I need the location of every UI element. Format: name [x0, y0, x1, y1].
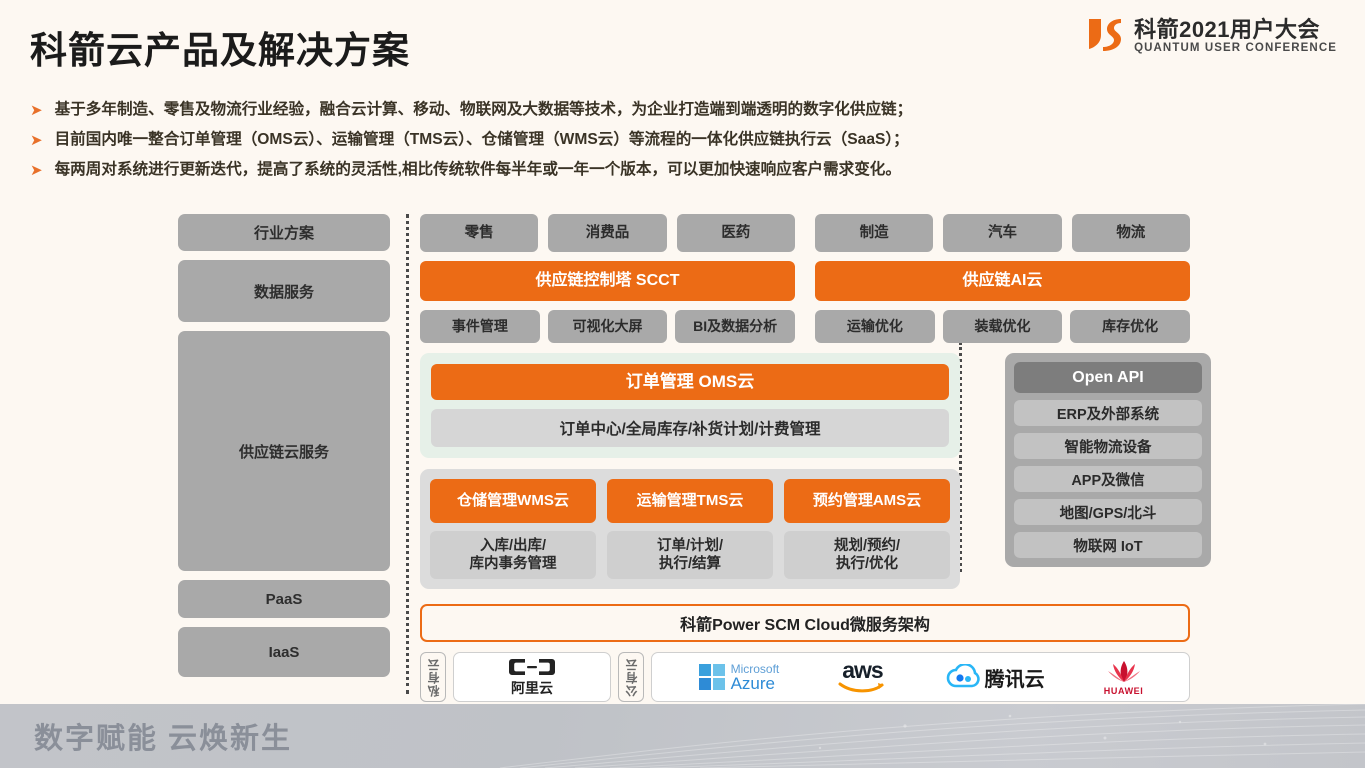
slide-root: 科箭云产品及解决方案 科箭2021用户大会 QUANTUM USER CONFE…	[0, 0, 1365, 768]
iaas-row: 私有云 阿里云 公有云	[420, 652, 1190, 702]
capability-chip-dashboard[interactable]: 可视化大屏	[548, 310, 668, 343]
tencent-cloud-logo-icon[interactable]: 腾讯云	[946, 663, 1045, 692]
architecture-diagram: 行业方案 数据服务 供应链云服务 PaaS IaaS 零售 消费品 医药 制造 …	[178, 214, 1190, 694]
capability-chip-event-mgmt[interactable]: 事件管理	[420, 310, 540, 343]
capability-chip-loading-opt[interactable]: 装载优化	[943, 310, 1063, 343]
platform-row: 供应链控制塔 SCCT 供应链AI云	[420, 261, 1190, 301]
arrow-bullet-icon: ➤	[30, 160, 43, 181]
aliyun-logo-card[interactable]: 阿里云	[453, 652, 611, 702]
private-cloud-tag-label: 私有云	[425, 658, 442, 697]
api-item-app[interactable]: APP及微信	[1014, 466, 1202, 492]
footer-tagline: 数字赋能 云焕新生	[34, 715, 292, 757]
vertical-divider-left	[406, 214, 409, 694]
industry-chip-pharma[interactable]: 医药	[677, 214, 795, 252]
aws-smile-icon	[838, 681, 886, 694]
execution-title-line1: 仓储管理	[457, 492, 517, 510]
industry-group-right: 制造 汽车 物流	[815, 214, 1190, 252]
windows-squares-icon	[698, 663, 726, 691]
execution-title-line2: AMS云	[873, 492, 921, 510]
capability-group-left: 事件管理 可视化大屏 BI及数据分析	[420, 310, 795, 343]
industry-chip-retail[interactable]: 零售	[420, 214, 538, 252]
tencent-cloud-mark-icon	[946, 664, 980, 690]
execution-title-line1: 预约管理	[813, 492, 873, 510]
execution-title-wms[interactable]: 仓储管理 WMS云	[430, 479, 596, 523]
industry-chip-manufacturing[interactable]: 制造	[815, 214, 933, 252]
oms-panel: 订单管理 OMS云 订单中心/全局库存/补货计划/计费管理	[420, 353, 960, 458]
public-cloud-tag: 公有云	[618, 652, 644, 702]
aws-label: aws	[842, 660, 882, 681]
list-item: ➤ 基于多年制造、零售及物流行业经验，融合云计算、移动、物联网及大数据等技术，为…	[30, 100, 1347, 121]
api-item-erp[interactable]: ERP及外部系统	[1014, 400, 1202, 426]
logo-title-en: QUANTUM USER CONFERENCE	[1134, 42, 1337, 54]
aliyun-logo-icon: 阿里云	[509, 657, 555, 698]
api-item-equipment[interactable]: 智能物流设备	[1014, 433, 1202, 459]
layer-label-industry: 行业方案	[178, 214, 390, 251]
huawei-flower-icon	[1107, 659, 1141, 685]
industry-chip-consumer[interactable]: 消费品	[548, 214, 666, 252]
arrow-bullet-icon: ➤	[30, 100, 43, 121]
capability-group-right: 运输优化 装载优化 库存优化	[815, 310, 1190, 343]
tencent-cloud-label: 腾讯云	[985, 663, 1045, 692]
industry-chip-logistics[interactable]: 物流	[1072, 214, 1190, 252]
conference-logo: 科箭2021用户大会 QUANTUM USER CONFERENCE	[1085, 16, 1337, 56]
execution-body-wms: 入库/出库/库内事务管理	[430, 531, 596, 579]
execution-cell-tms: 运输管理 TMS云 订单/计划/执行/结算	[607, 479, 773, 579]
diagram-content-column: 零售 消费品 医药 制造 汽车 物流 供应链控制塔 SCCT 供应链AI云 事件…	[420, 214, 1190, 702]
aws-logo-icon[interactable]: aws	[838, 660, 886, 694]
list-item: ➤ 每两周对系统进行更新迭代，提高了系统的灵活性,相比传统软件每半年或一年一个版…	[30, 160, 1347, 181]
execution-cell-wms: 仓储管理 WMS云 入库/出库/库内事务管理	[430, 479, 596, 579]
api-item-iot[interactable]: 物联网 IoT	[1014, 532, 1202, 558]
quantum-s-mark-icon	[1085, 16, 1125, 56]
huawei-label: HUAWEI	[1104, 686, 1144, 696]
bullet-text: 目前国内唯一整合订单管理（OMS云）、运输管理（TMS云）、仓储管理（WMS云）…	[55, 130, 909, 150]
arrow-bullet-icon: ➤	[30, 130, 43, 151]
page-title: 科箭云产品及解决方案	[30, 20, 410, 74]
open-api-panel: Open API ERP及外部系统 智能物流设备 APP及微信 地图/GPS/北…	[1005, 353, 1211, 567]
aliyun-mark-icon	[509, 657, 555, 677]
cloud-services-area: 订单管理 OMS云 订单中心/全局库存/补货计划/计费管理 仓储管理 WMS云 …	[420, 353, 1190, 593]
industry-row: 零售 消费品 医药 制造 汽车 物流	[420, 214, 1190, 252]
azure-label: Azure	[731, 675, 780, 692]
execution-panel: 仓储管理 WMS云 入库/出库/库内事务管理 运输管理 TMS云 订单/计划/执…	[420, 469, 960, 589]
microsoft-azure-logo-icon[interactable]: Microsoft Azure	[698, 663, 780, 692]
private-cloud-tag: 私有云	[420, 652, 446, 702]
logo-title-cn: 科箭2021用户大会	[1134, 18, 1337, 41]
industry-group-left: 零售 消费品 医药	[420, 214, 795, 252]
footer-band: 数字赋能 云焕新生	[0, 704, 1365, 768]
cloud-services-left: 订单管理 OMS云 订单中心/全局库存/补货计划/计费管理 仓储管理 WMS云 …	[420, 353, 960, 589]
open-api-header[interactable]: Open API	[1014, 362, 1202, 393]
aliyun-label: 阿里云	[511, 678, 553, 698]
layer-label-iaas: IaaS	[178, 627, 390, 677]
execution-title-tms[interactable]: 运输管理 TMS云	[607, 479, 773, 523]
list-item: ➤ 目前国内唯一整合订单管理（OMS云）、运输管理（TMS云）、仓储管理（WMS…	[30, 130, 1347, 151]
platform-bar-ai[interactable]: 供应链AI云	[815, 261, 1190, 301]
layer-label-scm-cloud: 供应链云服务	[178, 331, 390, 571]
capability-chip-bi[interactable]: BI及数据分析	[675, 310, 795, 343]
execution-title-line2: TMS云	[697, 492, 744, 510]
capability-row: 事件管理 可视化大屏 BI及数据分析 运输优化 装载优化 库存优化	[420, 310, 1190, 343]
execution-title-line2: WMS云	[517, 492, 569, 510]
layer-label-column: 行业方案 数据服务 供应链云服务 PaaS IaaS	[178, 214, 390, 686]
paas-bar[interactable]: 科箭Power SCM Cloud微服务架构	[420, 604, 1190, 642]
public-cloud-logo-card: Microsoft Azure aws	[651, 652, 1190, 702]
execution-body-ams: 规划/预约/执行/优化	[784, 531, 950, 579]
bullet-text: 基于多年制造、零售及物流行业经验，融合云计算、移动、物联网及大数据等技术，为企业…	[55, 100, 913, 120]
industry-chip-automotive[interactable]: 汽车	[943, 214, 1061, 252]
platform-bar-scct[interactable]: 供应链控制塔 SCCT	[420, 261, 795, 301]
api-item-map-gps[interactable]: 地图/GPS/北斗	[1014, 499, 1202, 525]
oms-subtitle: 订单中心/全局库存/补货计划/计费管理	[431, 409, 949, 447]
bullet-list: ➤ 基于多年制造、零售及物流行业经验，融合云计算、移动、物联网及大数据等技术，为…	[30, 100, 1347, 190]
execution-body-tms: 订单/计划/执行/结算	[607, 531, 773, 579]
huawei-logo-icon[interactable]: HUAWEI	[1104, 659, 1144, 696]
execution-cell-ams: 预约管理 AMS云 规划/预约/执行/优化	[784, 479, 950, 579]
execution-title-ams[interactable]: 预约管理 AMS云	[784, 479, 950, 523]
layer-label-paas: PaaS	[178, 580, 390, 618]
capability-chip-inventory-opt[interactable]: 库存优化	[1070, 310, 1190, 343]
microsoft-brand-label: Microsoft	[731, 663, 780, 675]
oms-title[interactable]: 订单管理 OMS云	[431, 364, 949, 400]
execution-title-line1: 运输管理	[637, 492, 697, 510]
capability-chip-transport-opt[interactable]: 运输优化	[815, 310, 935, 343]
layer-label-data: 数据服务	[178, 260, 390, 322]
bullet-text: 每两周对系统进行更新迭代，提高了系统的灵活性,相比传统软件每半年或一年一个版本，…	[55, 160, 901, 180]
public-cloud-tag-label: 公有云	[623, 658, 640, 697]
